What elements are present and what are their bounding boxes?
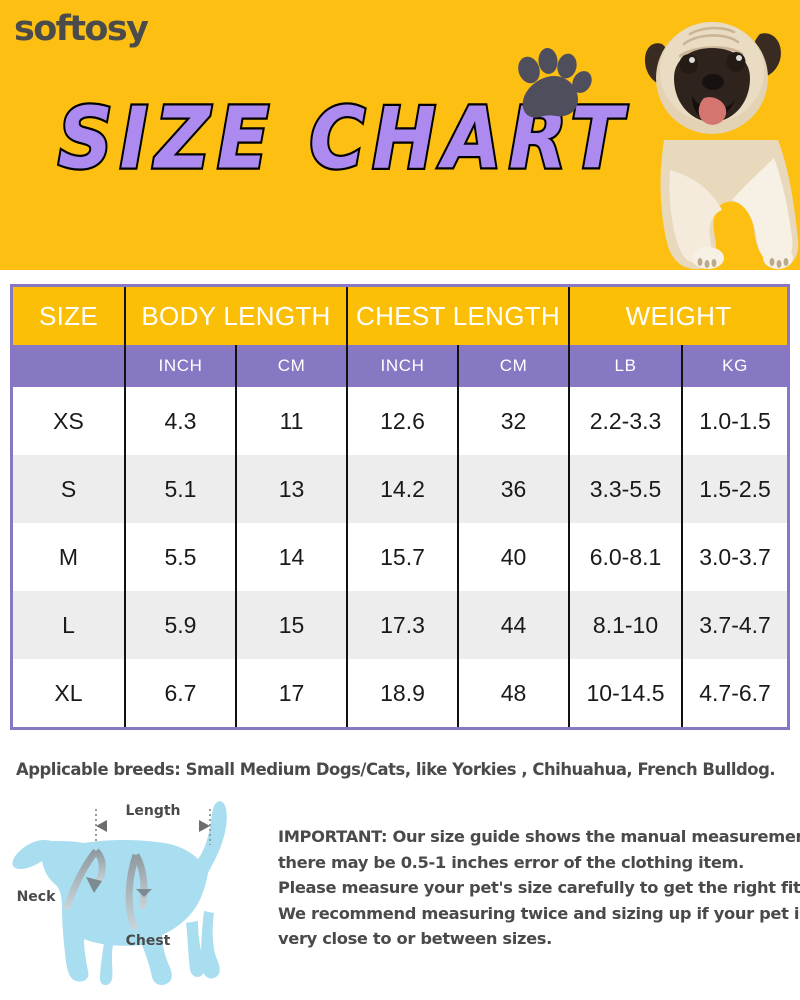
cell-body-cm: 17: [236, 659, 347, 727]
unit-header-weight-lb: LB: [569, 345, 682, 387]
diagram-label-neck: Neck: [17, 889, 57, 905]
cell-chest-cm: 48: [458, 659, 569, 727]
diagram-label-chest: Chest: [126, 933, 171, 949]
important-line-1: IMPORTANT: Our size guide shows the manu…: [278, 824, 794, 850]
dog-measurement-diagram: Length Neck Chest: [8, 793, 270, 989]
cell-chest-inch: 12.6: [347, 387, 458, 455]
cell-body-cm: 13: [236, 455, 347, 523]
cell-size: L: [13, 591, 125, 659]
cell-chest-inch: 17.3: [347, 591, 458, 659]
important-line-5: very close to or between sizes.: [278, 926, 794, 952]
cell-weight-lb: 2.2-3.3: [569, 387, 682, 455]
table-row: XL 6.7 17 18.9 48 10-14.5 4.7-6.7: [13, 659, 787, 727]
size-chart-page: softosy SIZE CHART: [0, 0, 800, 1000]
important-line-3: Please measure your pet's size carefully…: [278, 875, 794, 901]
cell-body-inch: 5.9: [125, 591, 236, 659]
table-unit-header-row: INCH CM INCH CM LB KG: [13, 345, 787, 387]
cell-chest-inch: 18.9: [347, 659, 458, 727]
cell-weight-lb: 10-14.5: [569, 659, 682, 727]
header-chest-length: CHEST LENGTH: [347, 287, 569, 345]
cell-size: XL: [13, 659, 125, 727]
cell-weight-kg: 1.5-2.5: [682, 455, 787, 523]
unit-header-blank: [13, 345, 125, 387]
diagram-label-length: Length: [125, 803, 180, 819]
table-row: XS 4.3 11 12.6 32 2.2-3.3 1.0-1.5: [13, 387, 787, 455]
unit-header-chest-cm: CM: [458, 345, 569, 387]
pug-dog-photo: [612, 0, 800, 270]
cell-chest-cm: 36: [458, 455, 569, 523]
table-group-header-row: SIZE BODY LENGTH CHEST LENGTH WEIGHT: [13, 287, 787, 345]
header-size: SIZE: [13, 287, 125, 345]
unit-header-weight-kg: KG: [682, 345, 787, 387]
cell-chest-cm: 44: [458, 591, 569, 659]
unit-header-body-inch: INCH: [125, 345, 236, 387]
cell-body-cm: 14: [236, 523, 347, 591]
size-table: SIZE BODY LENGTH CHEST LENGTH WEIGHT INC…: [13, 287, 787, 727]
important-line-2: there may be 0.5-1 inches error of the c…: [278, 850, 794, 876]
cell-size: M: [13, 523, 125, 591]
table-row: S 5.1 13 14.2 36 3.3-5.5 1.5-2.5: [13, 455, 787, 523]
header-banner: softosy SIZE CHART: [0, 0, 800, 270]
cell-weight-lb: 6.0-8.1: [569, 523, 682, 591]
cell-weight-kg: 3.7-4.7: [682, 591, 787, 659]
cell-body-inch: 4.3: [125, 387, 236, 455]
cell-chest-inch: 15.7: [347, 523, 458, 591]
applicable-breeds-note: Applicable breeds: Small Medium Dogs/Cat…: [16, 760, 791, 779]
header-weight: WEIGHT: [569, 287, 787, 345]
cell-weight-kg: 3.0-3.7: [682, 523, 787, 591]
cell-weight-lb: 8.1-10: [569, 591, 682, 659]
unit-header-body-cm: CM: [236, 345, 347, 387]
cell-size: XS: [13, 387, 125, 455]
cell-body-inch: 6.7: [125, 659, 236, 727]
cell-weight-kg: 1.0-1.5: [682, 387, 787, 455]
paw-print-icon: [512, 48, 592, 122]
header-body-length: BODY LENGTH: [125, 287, 347, 345]
cell-chest-inch: 14.2: [347, 455, 458, 523]
cell-size: S: [13, 455, 125, 523]
cell-weight-lb: 3.3-5.5: [569, 455, 682, 523]
size-table-container: SIZE BODY LENGTH CHEST LENGTH WEIGHT INC…: [10, 284, 790, 730]
table-row: M 5.5 14 15.7 40 6.0-8.1 3.0-3.7: [13, 523, 787, 591]
cell-chest-cm: 32: [458, 387, 569, 455]
cell-body-cm: 15: [236, 591, 347, 659]
cell-body-cm: 11: [236, 387, 347, 455]
cell-chest-cm: 40: [458, 523, 569, 591]
important-line-4: We recommend measuring twice and sizing …: [278, 901, 794, 927]
cell-body-inch: 5.5: [125, 523, 236, 591]
cell-weight-kg: 4.7-6.7: [682, 659, 787, 727]
cell-body-inch: 5.1: [125, 455, 236, 523]
unit-header-chest-inch: INCH: [347, 345, 458, 387]
important-note: IMPORTANT: Our size guide shows the manu…: [278, 824, 794, 952]
brand-logo: softosy: [14, 12, 147, 47]
table-row: L 5.9 15 17.3 44 8.1-10 3.7-4.7: [13, 591, 787, 659]
